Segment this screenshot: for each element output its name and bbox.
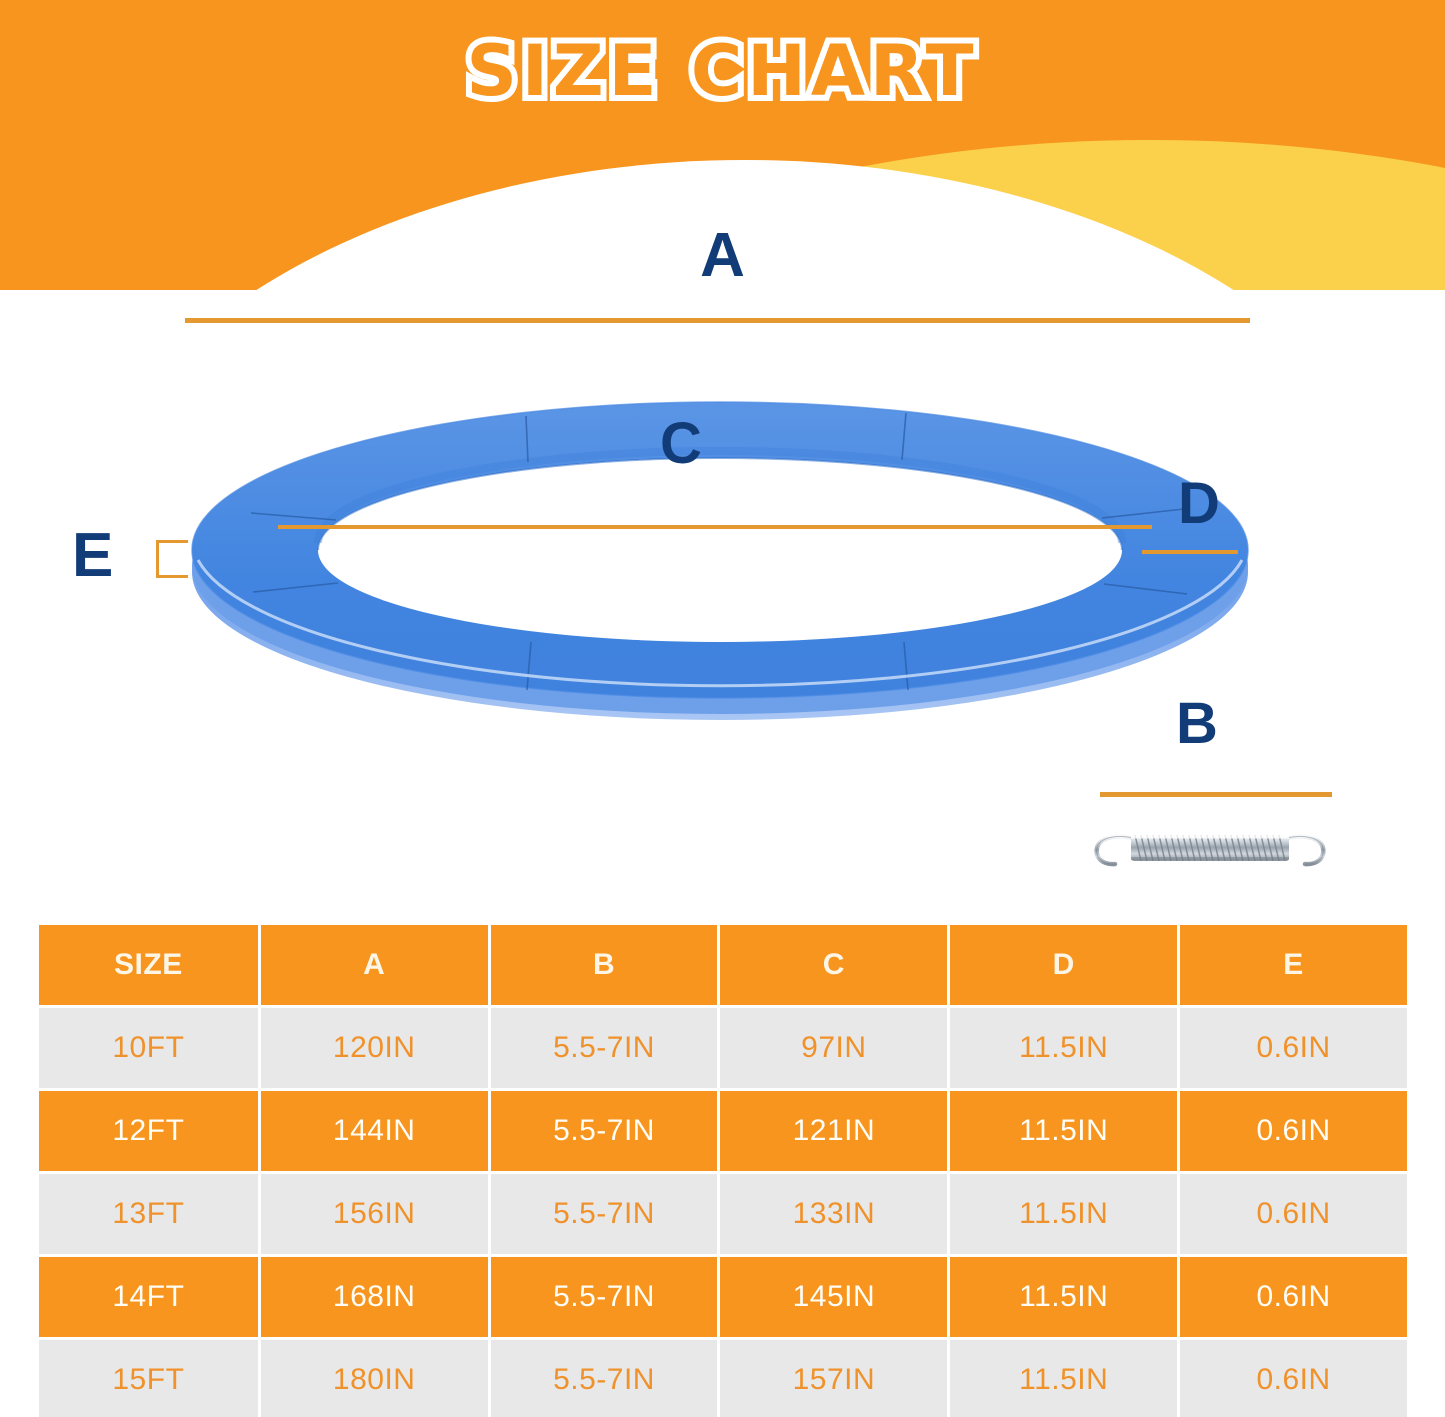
cell-d: 11.5IN [950, 1008, 1177, 1088]
cell-c: 133IN [720, 1174, 947, 1254]
trampoline-pad-illustration [190, 380, 1250, 740]
trampoline-pad-svg [190, 380, 1250, 740]
cell-c: 157IN [720, 1340, 947, 1417]
cell-size: 10FT [39, 1008, 258, 1088]
cell-size: 13FT [39, 1174, 258, 1254]
dimension-label-c: C [660, 415, 702, 473]
cell-a: 168IN [261, 1257, 488, 1337]
cell-size: 14FT [39, 1257, 258, 1337]
table-header-row: SIZE A B C D E [39, 925, 1407, 1005]
cell-b: 5.5-7IN [491, 1174, 718, 1254]
cell-e: 0.6IN [1180, 1340, 1407, 1417]
dimension-line-d [1142, 550, 1238, 554]
dimension-line-c [278, 525, 1152, 529]
cell-b: 5.5-7IN [491, 1340, 718, 1417]
cell-a: 180IN [261, 1340, 488, 1417]
table-header-c: C [720, 925, 947, 1005]
table-row: 14FT 168IN 5.5-7IN 145IN 11.5IN 0.6IN [39, 1257, 1407, 1337]
cell-b: 5.5-7IN [491, 1008, 718, 1088]
table-row: 15FT 180IN 5.5-7IN 157IN 11.5IN 0.6IN [39, 1340, 1407, 1417]
table-header-b: B [491, 925, 718, 1005]
cell-d: 11.5IN [950, 1091, 1177, 1171]
table-row: 10FT 120IN 5.5-7IN 97IN 11.5IN 0.6IN [39, 1008, 1407, 1088]
spring-icon [1085, 818, 1335, 878]
table-header-d: D [950, 925, 1177, 1005]
table-header-a: A [261, 925, 488, 1005]
dimension-label-b: B [1176, 695, 1218, 753]
cell-a: 144IN [261, 1091, 488, 1171]
dimension-label-d: D [1178, 475, 1220, 533]
cell-e: 0.6IN [1180, 1174, 1407, 1254]
cell-a: 120IN [261, 1008, 488, 1088]
size-chart-page: SIZE CHART A [0, 0, 1445, 1417]
cell-d: 11.5IN [950, 1340, 1177, 1417]
product-diagram: A [0, 200, 1445, 900]
spring-illustration [1085, 818, 1335, 878]
dimension-line-b [1100, 792, 1332, 797]
table-header-e: E [1180, 925, 1407, 1005]
cell-size: 15FT [39, 1340, 258, 1417]
dimension-label-a: A [0, 225, 1445, 287]
table-row: 12FT 144IN 5.5-7IN 121IN 11.5IN 0.6IN [39, 1091, 1407, 1171]
cell-e: 0.6IN [1180, 1257, 1407, 1337]
cell-c: 97IN [720, 1008, 947, 1088]
size-chart-table: SIZE A B C D E 10FT 120IN 5.5-7IN 97IN 1… [36, 922, 1410, 1417]
cell-d: 11.5IN [950, 1257, 1177, 1337]
dimension-label-e: E [72, 525, 113, 587]
cell-b: 5.5-7IN [491, 1257, 718, 1337]
cell-d: 11.5IN [950, 1174, 1177, 1254]
cell-b: 5.5-7IN [491, 1091, 718, 1171]
cell-size: 12FT [39, 1091, 258, 1171]
cell-e: 0.6IN [1180, 1008, 1407, 1088]
dimension-bracket-e-caps [156, 540, 188, 578]
dimension-line-a [185, 318, 1250, 323]
cell-a: 156IN [261, 1174, 488, 1254]
cell-c: 121IN [720, 1091, 947, 1171]
table-header-size: SIZE [39, 925, 258, 1005]
table-row: 13FT 156IN 5.5-7IN 133IN 11.5IN 0.6IN [39, 1174, 1407, 1254]
cell-c: 145IN [720, 1257, 947, 1337]
cell-e: 0.6IN [1180, 1091, 1407, 1171]
page-title: SIZE CHART [0, 36, 1445, 106]
